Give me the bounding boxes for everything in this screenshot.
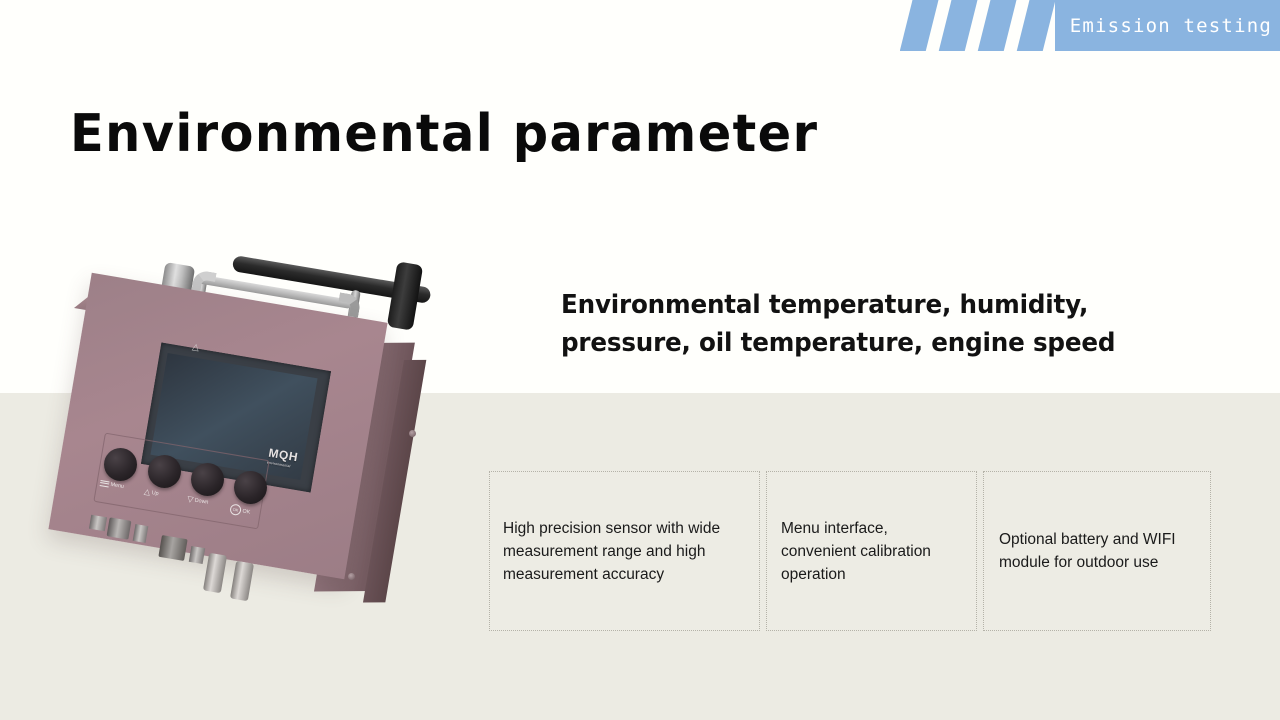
page-title: Environmental parameter [70, 104, 818, 164]
connector-1 [89, 515, 107, 531]
feature-box-group: High precision sensor with wide measurem… [489, 471, 1211, 631]
ok-circle-icon: OK [229, 503, 242, 516]
header-stripe-2 [937, 0, 979, 51]
header-stripe-1 [900, 0, 940, 51]
feature-box-2-text: Menu interface, convenient calibration o… [767, 517, 976, 586]
bottom-port-2 [230, 561, 254, 601]
feature-box-2: Menu interface, convenient calibration o… [766, 471, 977, 631]
antenna-base-icon [387, 261, 424, 330]
device-button-down[interactable] [191, 463, 224, 496]
triangle-up-icon: △ [143, 488, 150, 497]
feature-box-1-text: High precision sensor with wide measurem… [490, 517, 759, 586]
device-button-menu[interactable] [104, 448, 137, 481]
triangle-down-icon: ▽ [186, 495, 193, 504]
header-stripe-4 [1015, 0, 1057, 51]
menu-lines-icon [100, 479, 110, 488]
device-illustration: △ MQH environmental Menu △ Up ▽ Down OK … [60, 238, 460, 628]
header-stripe-3 [976, 0, 1018, 51]
header-stripes [900, 0, 1058, 51]
screw-lower-right [348, 573, 355, 580]
device-button-up[interactable] [148, 455, 181, 488]
slide-subtitle: Environmental temperature, humidity, pre… [561, 286, 1198, 362]
feature-box-3-text: Optional battery and WIFI module for out… [984, 528, 1210, 574]
connector-4 [158, 535, 187, 561]
connector-5 [189, 546, 205, 564]
feature-box-3: Optional battery and WIFI module for out… [983, 471, 1211, 631]
feature-box-1: High precision sensor with wide measurem… [489, 471, 760, 631]
bottom-port-1 [203, 553, 227, 593]
connector-2 [107, 517, 132, 539]
connector-3 [133, 524, 149, 543]
header-ribbon: Emission testing [900, 0, 1280, 51]
header-label: Emission testing [1070, 0, 1272, 51]
screw-upper-right [409, 430, 416, 437]
wifi-glyph-icon: △ [191, 342, 199, 352]
device-button-ok[interactable] [234, 471, 267, 504]
